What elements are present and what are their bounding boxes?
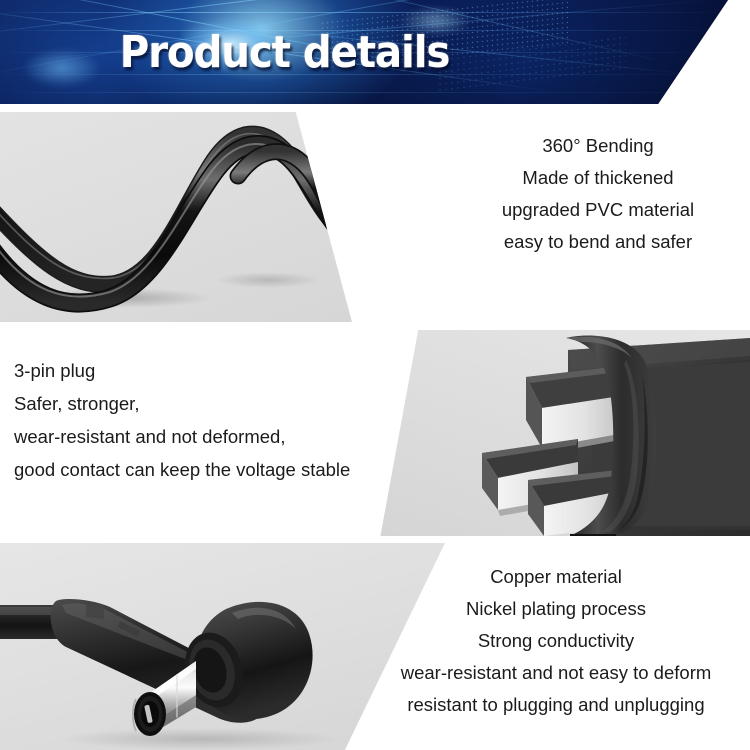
header-banner: Product details <box>0 0 750 112</box>
section-plug-line-3: wear-resistant and not deformed, <box>14 420 434 453</box>
section-plug-line-4: good contact can keep the voltage stable <box>14 453 434 486</box>
section-dc-line-5: resistant to plugging and unplugging <box>370 689 742 721</box>
section-bending-line-4: easy to bend and safer <box>452 226 744 258</box>
section-bending-line-3: upgraded PVC material <box>452 194 744 226</box>
section-three-pin-plug-text: 3-pin plug Safer, stronger, wear-resista… <box>14 354 434 486</box>
section-bending-line-1: 360° Bending <box>452 130 744 162</box>
page-title: Product details <box>0 0 670 104</box>
section-bending: 360° Bending Made of thickened upgraded … <box>0 112 750 322</box>
banner-inner: Product details <box>0 0 728 104</box>
section-bending-text: 360° Bending Made of thickened upgraded … <box>452 130 744 258</box>
section-dc-line-1: Copper material <box>370 561 742 593</box>
section-bending-photo-panel <box>0 112 352 322</box>
section-three-pin-plug: 3-pin plug Safer, stronger, wear-resista… <box>0 330 750 536</box>
section-bending-line-2: Made of thickened <box>452 162 744 194</box>
product-details-page: Product details <box>0 0 750 750</box>
section-dc-line-2: Nickel plating process <box>370 593 742 625</box>
section-dc-connector-text: Copper material Nickel plating process S… <box>370 561 742 721</box>
section-dc-line-4: wear-resistant and not easy to deform <box>370 657 742 689</box>
coiled-black-pvc-cable-photo <box>0 112 352 322</box>
section-plug-line-1: 3-pin plug <box>14 354 434 387</box>
section-dc-line-3: Strong conductivity <box>370 625 742 657</box>
section-dc-connector: Copper material Nickel plating process S… <box>0 543 750 750</box>
section-plug-line-2: Safer, stronger, <box>14 387 434 420</box>
